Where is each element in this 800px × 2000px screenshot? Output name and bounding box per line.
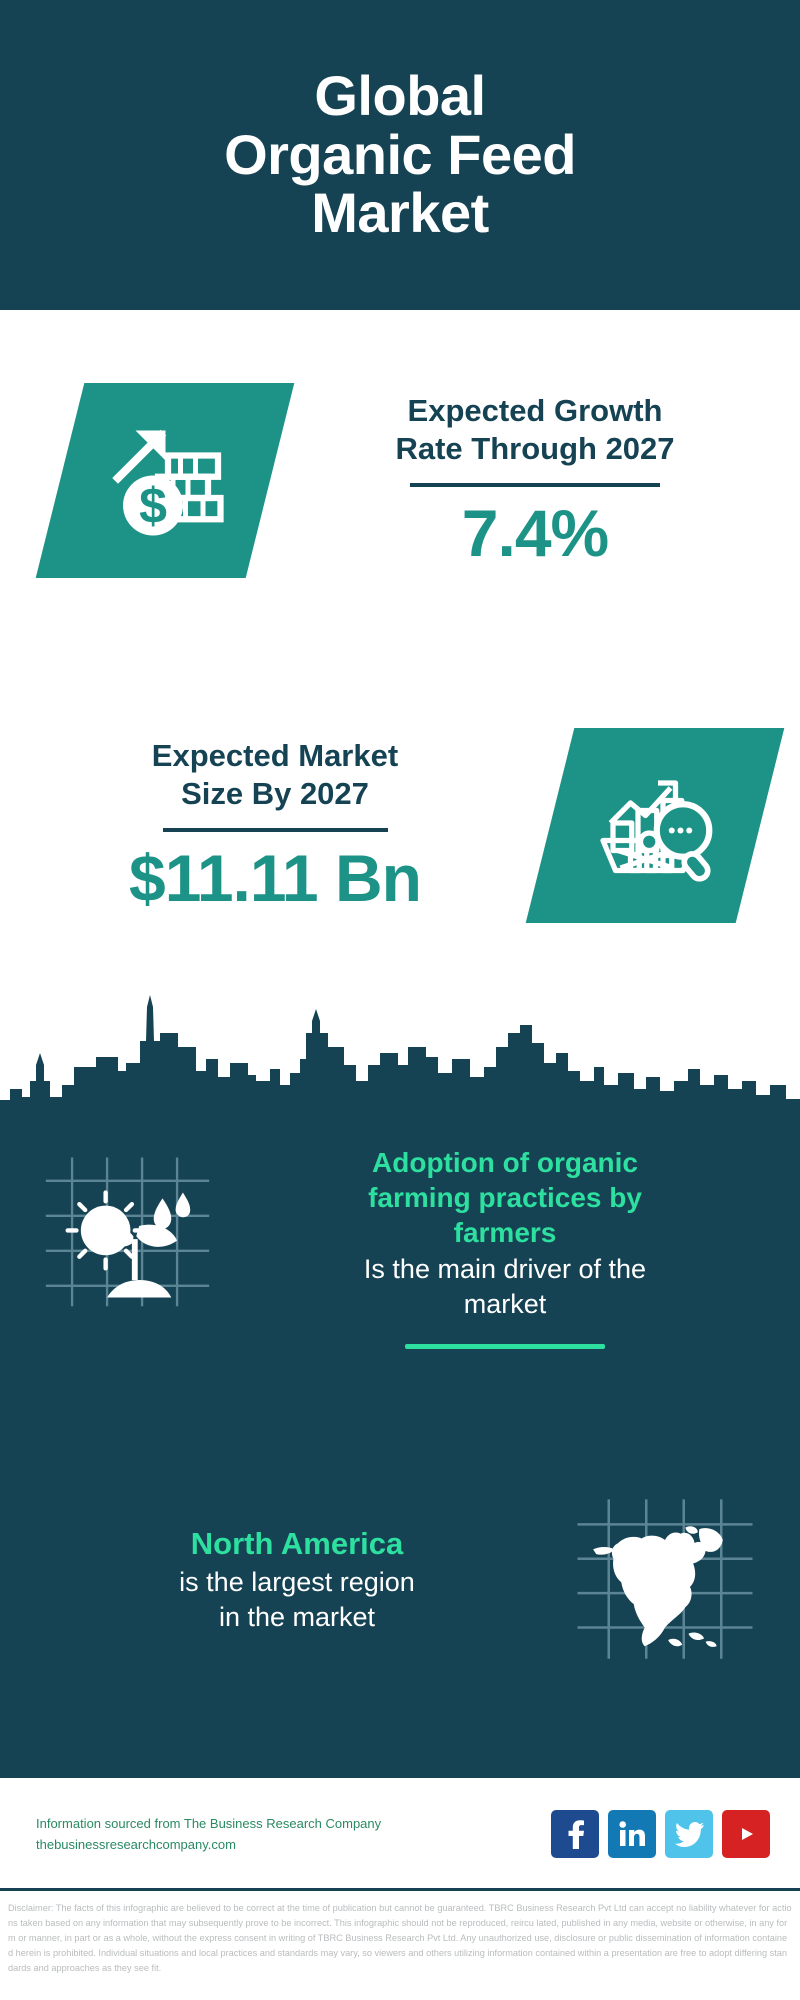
growth-rate-text: Expected Growth Rate Through 2027 7.4% [270,392,800,569]
market-size-divider [163,828,388,832]
driver-text: Adoption of organic farming practices by… [240,1145,770,1349]
sprout-growth-icon [40,1145,240,1325]
market-size-label: Expected Market Size By 2027 [10,737,540,815]
city-skyline-graphic [0,985,800,1125]
source-line-1: Information sourced from The Business Re… [36,1813,551,1834]
driver-subline-line-1: Is the main driver of the [266,1252,744,1287]
title-line-2: Organic Feed [224,126,576,185]
facebook-icon[interactable] [551,1810,599,1858]
region-subline-line-2: in the market [50,1600,544,1635]
region-headline: North America [50,1525,544,1564]
market-size-text: Expected Market Size By 2027 $11.11 Bn [0,737,550,914]
north-america-map-icon [570,1490,770,1670]
infographic-page: Global Organic Feed Market [0,0,800,2000]
stat-market-size: Expected Market Size By 2027 $11.11 Bn [0,700,800,950]
source-text: Information sourced from The Business Re… [0,1813,551,1856]
market-size-value: $11.11 Bn [10,844,540,913]
youtube-icon[interactable] [722,1810,770,1858]
stat-growth-rate: $ Expected Growth Rate Through 2027 7.4% [0,355,800,605]
region-subline-line-1: is the largest region [50,1565,544,1600]
driver-headline-line-3: farmers [266,1215,744,1250]
title-line-3: Market [224,184,576,243]
money-growth-icon: $ [36,383,295,578]
driver-headline-line-1: Adoption of organic [266,1145,744,1180]
disclaimer-text: Disclaimer: The facts of this infographi… [0,1895,800,2000]
source-line-2[interactable]: thebusinessresearchcompany.com [36,1834,551,1855]
growth-label-line-2: Rate Through 2027 [280,430,790,469]
growth-rate-label: Expected Growth Rate Through 2027 [280,392,790,470]
size-label-line-1: Expected Market [10,737,540,776]
growth-label-line-1: Expected Growth [280,392,790,431]
market-driver-block: Adoption of organic farming practices by… [0,1145,800,1460]
chart-analysis-icon [526,728,785,923]
social-links [551,1810,800,1858]
driver-subline: Is the main driver of the market [266,1252,744,1322]
largest-region-block: North America is the largest region in t… [0,1470,800,1690]
linkedin-icon[interactable] [608,1810,656,1858]
growth-divider [410,483,660,487]
driver-subline-line-2: market [266,1287,744,1322]
title-line-1: Global [224,67,576,126]
source-footer: Information sourced from The Business Re… [0,1778,800,1890]
svg-text:$: $ [139,478,167,534]
region-text: North America is the largest region in t… [24,1525,570,1636]
page-title: Global Organic Feed Market [224,67,576,243]
driver-headline: Adoption of organic farming practices by… [266,1145,744,1250]
header-banner: Global Organic Feed Market [0,0,800,310]
twitter-icon[interactable] [665,1810,713,1858]
driver-divider [405,1344,605,1349]
size-label-line-2: Size By 2027 [10,775,540,814]
driver-headline-line-2: farming practices by [266,1180,744,1215]
region-subline: is the largest region in the market [50,1565,544,1635]
growth-rate-value: 7.4% [280,499,790,568]
disclaimer-divider [0,1888,800,1891]
